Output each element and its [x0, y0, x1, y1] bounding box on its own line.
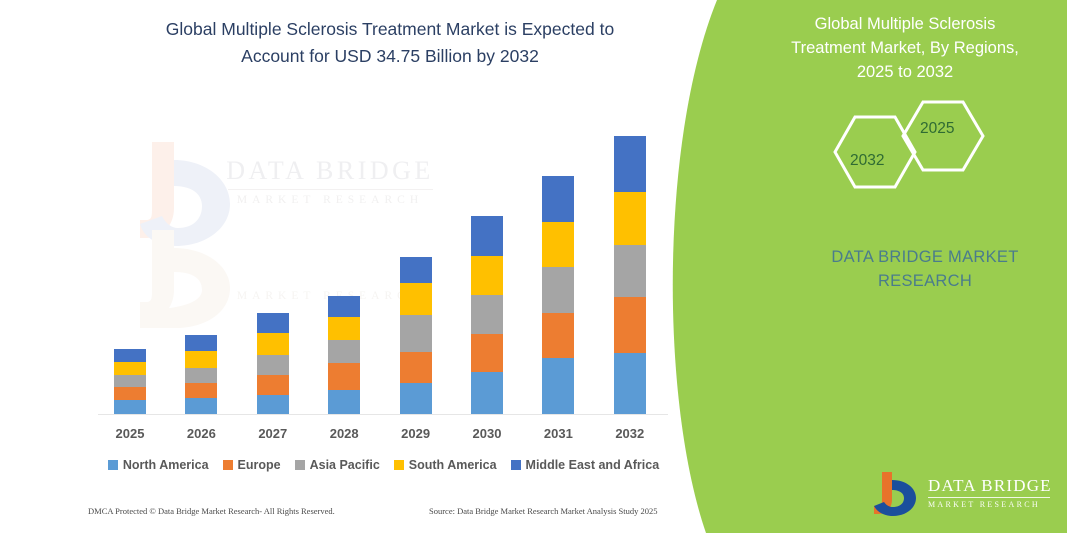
- bar-segment[interactable]: [257, 355, 289, 375]
- chart-legend: North AmericaEuropeAsia PacificSouth Ame…: [96, 455, 671, 475]
- x-axis-label-2026: 2026: [171, 426, 231, 441]
- right-panel-brand-line1: DATA BRIDGE MARKET: [790, 245, 1060, 269]
- bar-segment[interactable]: [185, 383, 217, 398]
- bar-segment[interactable]: [114, 349, 146, 362]
- legend-swatch-icon: [223, 460, 233, 470]
- right-panel-title-line3: 2025 to 2032: [760, 60, 1050, 84]
- chart-axis-line: [98, 414, 668, 415]
- bar-segment[interactable]: [114, 400, 146, 414]
- bar-segment[interactable]: [542, 267, 574, 313]
- bar-segment[interactable]: [614, 192, 646, 245]
- logo-wordmark-divider: [928, 497, 1050, 498]
- chart-x-axis-labels: 20252026202720282029203020312032: [98, 424, 668, 446]
- bar-segment[interactable]: [185, 368, 217, 383]
- bar-column-2026[interactable]: [185, 335, 217, 414]
- bar-column-2030[interactable]: [471, 216, 503, 414]
- stacked-bar-chart: 20252026202720282029203020312032 North A…: [0, 0, 700, 533]
- bar-segment[interactable]: [471, 334, 503, 372]
- bar-segment[interactable]: [400, 283, 432, 315]
- legend-item[interactable]: Europe: [223, 458, 281, 472]
- bar-segment[interactable]: [257, 395, 289, 414]
- bar-segment[interactable]: [542, 358, 574, 414]
- bar-segment[interactable]: [542, 313, 574, 358]
- bar-column-2029[interactable]: [400, 257, 432, 414]
- bar-segment[interactable]: [471, 216, 503, 256]
- x-axis-label-2032: 2032: [600, 426, 660, 441]
- bar-segment[interactable]: [400, 383, 432, 414]
- bar-segment[interactable]: [328, 390, 360, 414]
- bar-column-2032[interactable]: [614, 136, 646, 414]
- legend-label: North America: [123, 458, 209, 472]
- bar-column-2031[interactable]: [542, 176, 574, 414]
- x-axis-label-2028: 2028: [314, 426, 374, 441]
- year-hexagons: 2025 2032: [820, 95, 990, 210]
- data-bridge-logo: DATA BRIDGE MARKET RESEARCH: [872, 470, 1052, 518]
- right-panel-title-line2: Treatment Market, By Regions,: [760, 36, 1050, 60]
- footer-source: Source: Data Bridge Market Research Mark…: [429, 506, 658, 516]
- bar-segment[interactable]: [400, 257, 432, 283]
- x-axis-label-2031: 2031: [528, 426, 588, 441]
- legend-label: Middle East and Africa: [526, 458, 660, 472]
- right-panel-title-line1: Global Multiple Sclerosis: [760, 12, 1050, 36]
- bar-segment[interactable]: [185, 398, 217, 414]
- bar-segment[interactable]: [471, 256, 503, 295]
- x-axis-label-2025: 2025: [100, 426, 160, 441]
- bar-segment[interactable]: [614, 245, 646, 297]
- right-panel-brand: DATA BRIDGE MARKET RESEARCH: [790, 245, 1060, 293]
- bar-segment[interactable]: [185, 351, 217, 368]
- bar-segment[interactable]: [328, 317, 360, 340]
- bar-segment[interactable]: [328, 363, 360, 390]
- bar-segment[interactable]: [257, 313, 289, 333]
- legend-swatch-icon: [394, 460, 404, 470]
- x-axis-label-2029: 2029: [386, 426, 446, 441]
- bar-segment[interactable]: [471, 295, 503, 334]
- right-panel-title: Global Multiple Sclerosis Treatment Mark…: [760, 12, 1050, 84]
- legend-label: Europe: [238, 458, 281, 472]
- bar-segment[interactable]: [400, 352, 432, 383]
- bar-segment[interactable]: [542, 222, 574, 267]
- data-bridge-logo-wordmark: DATA BRIDGE MARKET RESEARCH: [928, 476, 1052, 510]
- x-axis-label-2030: 2030: [457, 426, 517, 441]
- hexagon-end-year-label: 2032: [850, 152, 884, 170]
- bar-segment[interactable]: [400, 315, 432, 352]
- infographic-root: Global Multiple Sclerosis Treatment Mark…: [0, 0, 1067, 533]
- legend-swatch-icon: [511, 460, 521, 470]
- bar-segment[interactable]: [114, 375, 146, 387]
- bar-segment[interactable]: [614, 353, 646, 414]
- legend-item[interactable]: North America: [108, 458, 209, 472]
- bar-column-2028[interactable]: [328, 296, 360, 414]
- bar-segment[interactable]: [114, 387, 146, 400]
- logo-wordmark-line2: MARKET RESEARCH: [928, 500, 1052, 510]
- hexagon-start-year-label: 2025: [920, 120, 954, 138]
- legend-item[interactable]: South America: [394, 458, 497, 472]
- bar-segment[interactable]: [328, 340, 360, 363]
- bar-segment[interactable]: [542, 176, 574, 222]
- bar-segment[interactable]: [114, 362, 146, 375]
- footer: DMCA Protected © Data Bridge Market Rese…: [0, 506, 700, 528]
- x-axis-label-2027: 2027: [243, 426, 303, 441]
- bar-segment[interactable]: [614, 136, 646, 192]
- legend-item[interactable]: Asia Pacific: [295, 458, 380, 472]
- bar-column-2027[interactable]: [257, 313, 289, 414]
- right-panel-brand-line2: RESEARCH: [790, 269, 1060, 293]
- bar-segment[interactable]: [614, 297, 646, 353]
- bar-segment[interactable]: [257, 375, 289, 395]
- data-bridge-logo-mark: [872, 470, 924, 518]
- bar-segment[interactable]: [185, 335, 217, 351]
- legend-label: Asia Pacific: [310, 458, 380, 472]
- bar-segment[interactable]: [257, 333, 289, 355]
- footer-copyright: DMCA Protected © Data Bridge Market Rese…: [88, 506, 335, 516]
- bar-segment[interactable]: [328, 296, 360, 317]
- logo-wordmark-line1: DATA BRIDGE: [928, 476, 1052, 495]
- legend-label: South America: [409, 458, 497, 472]
- legend-swatch-icon: [108, 460, 118, 470]
- legend-swatch-icon: [295, 460, 305, 470]
- legend-item[interactable]: Middle East and Africa: [511, 458, 660, 472]
- bar-segment[interactable]: [471, 372, 503, 414]
- bar-column-2025[interactable]: [114, 349, 146, 414]
